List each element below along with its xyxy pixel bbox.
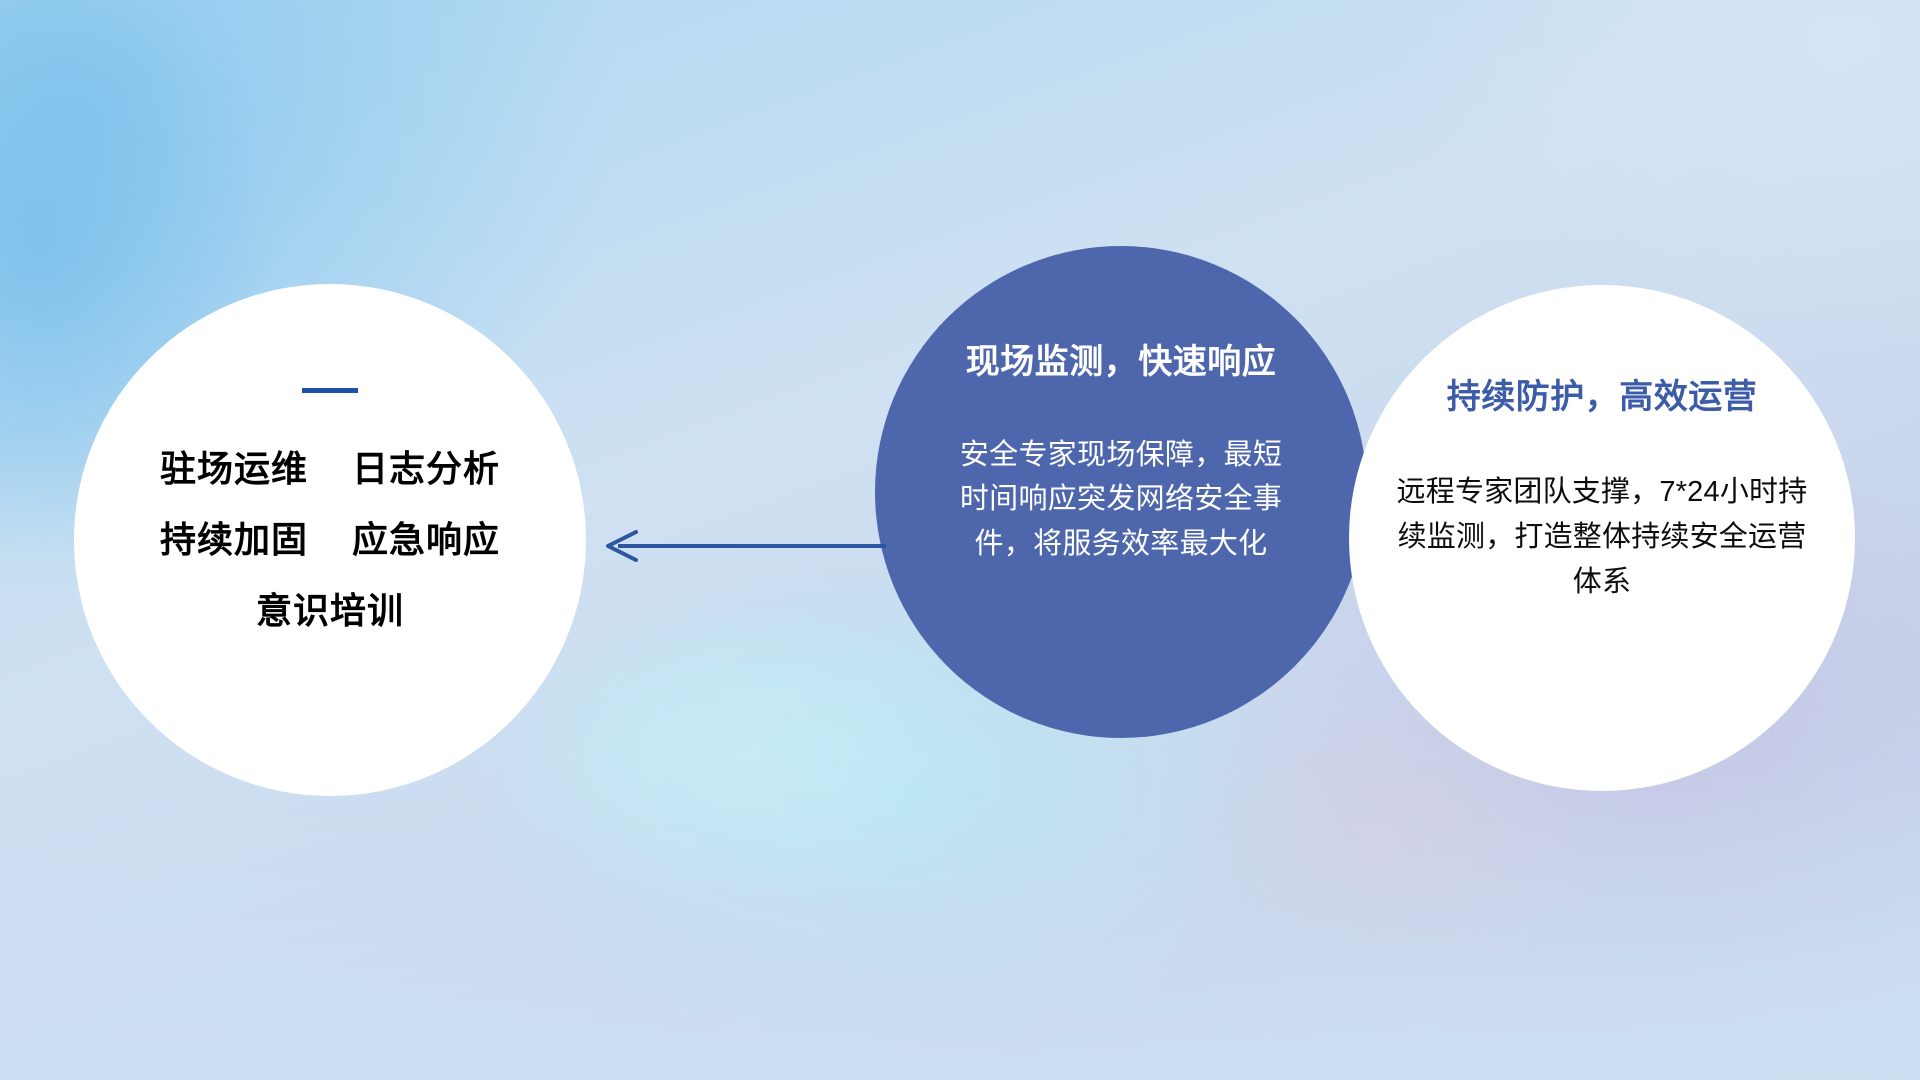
onsite-monitoring-body: 安全专家现场保障，最短时间响应突发网络安全事件，将服务效率最大化 — [956, 433, 1286, 565]
capability-line-1: 驻场运维 日志分析 — [160, 451, 500, 487]
divider-dash — [302, 388, 358, 393]
capability-line-2: 持续加固 应急响应 — [160, 522, 500, 558]
capability-line-3: 意识培训 — [256, 593, 404, 629]
continuous-protection-body: 远程专家团队支撑，7*24小时持续监测，打造整体持续安全运营体系 — [1392, 470, 1812, 604]
continuous-protection-content: 持续防护，高效运营 远程专家团队支撑，7*24小时持续监测，打造整体持续安全运营… — [1349, 285, 1855, 791]
continuous-protection-title: 持续防护，高效运营 — [1447, 379, 1758, 416]
slide-canvas: 驻场运维 日志分析 持续加固 应急响应 意识培训 现场监测，快速响应 安全专家现… — [0, 0, 1920, 1080]
service-capabilities-content: 驻场运维 日志分析 持续加固 应急响应 意识培训 — [74, 284, 586, 796]
onsite-monitoring-title: 现场监测，快速响应 — [966, 344, 1277, 381]
leftward-flow-arrow — [596, 520, 886, 572]
onsite-monitoring-content: 现场监测，快速响应 安全专家现场保障，最短时间响应突发网络安全事件，将服务效率最… — [875, 246, 1367, 738]
